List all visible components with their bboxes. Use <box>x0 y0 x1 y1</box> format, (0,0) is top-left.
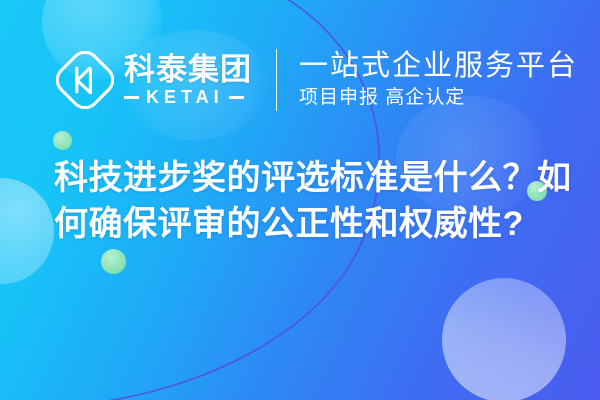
brand-name-cn: 科泰集团 <box>124 54 252 86</box>
wordmark-dash-left-icon <box>124 96 139 99</box>
banner-header: 科泰集团 KETAI 一站式企业服务平台 项目申报 高企认定 <box>56 43 578 117</box>
slogan-block: 一站式企业服务平台 项目申报 高企认定 <box>299 50 578 110</box>
header-divider <box>276 49 277 111</box>
brand-name-en: KETAI <box>146 88 224 106</box>
green-accent-dot-1 <box>53 131 72 150</box>
promo-banner: 科泰集团 KETAI 一站式企业服务平台 项目申报 高企认定 科技进步奖的评选标… <box>0 0 600 400</box>
wordmark-dash-right-icon <box>229 96 244 99</box>
headline-line-2: 何确保评审的公正性和权威性? <box>54 201 554 247</box>
slogan-main: 一站式企业服务平台 <box>299 50 578 82</box>
circle-left-edge <box>0 178 54 284</box>
brand-name-en-row: KETAI <box>124 88 252 106</box>
brand-wordmark: 科泰集团 KETAI <box>124 54 252 107</box>
slogan-sub: 项目申报 高企认定 <box>299 87 578 110</box>
headline-line-1: 科技进步奖的评选标准是什么？如 <box>54 155 554 201</box>
circle-bottom-right <box>442 278 566 400</box>
green-accent-dot-2 <box>101 249 126 274</box>
page-title: 科技进步奖的评选标准是什么？如 何确保评审的公正性和权威性? <box>54 155 554 247</box>
kt-monogram-icon <box>56 51 114 109</box>
